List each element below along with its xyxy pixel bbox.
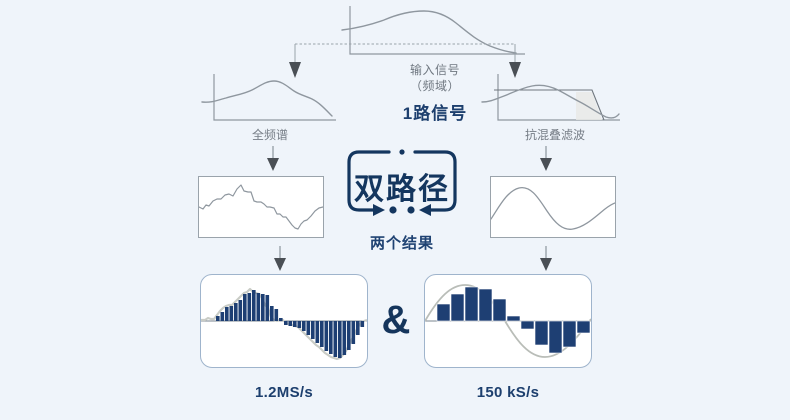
antialias-filter-chart	[480, 72, 625, 128]
antialias-filter-caption: 抗混叠滤波	[490, 128, 620, 143]
full-spectrum-timebox	[198, 176, 324, 238]
two-results-label: 两个结果	[340, 232, 464, 253]
arrow-right-to-timebox	[538, 146, 554, 172]
conjunction-symbol: &	[378, 300, 414, 340]
output-low-rate-chart	[424, 274, 592, 368]
output-high-rate-chart	[200, 274, 368, 368]
filtered-sine-timebox	[490, 176, 616, 238]
output-low-rate-label: 150 kS/s	[428, 384, 588, 401]
dual-path-label: 双路径	[343, 164, 461, 208]
full-spectrum-chart	[200, 72, 340, 128]
diagram-canvas: 输入信号 （频域） 1路信号 全频谱	[0, 0, 790, 420]
output-high-rate-label: 1.2MS/s	[204, 384, 364, 401]
arrow-left-to-timebox	[265, 146, 281, 172]
full-spectrum-caption: 全频谱	[205, 128, 335, 143]
arrow-left-to-output	[272, 246, 288, 272]
arrow-right-to-output	[538, 246, 554, 272]
